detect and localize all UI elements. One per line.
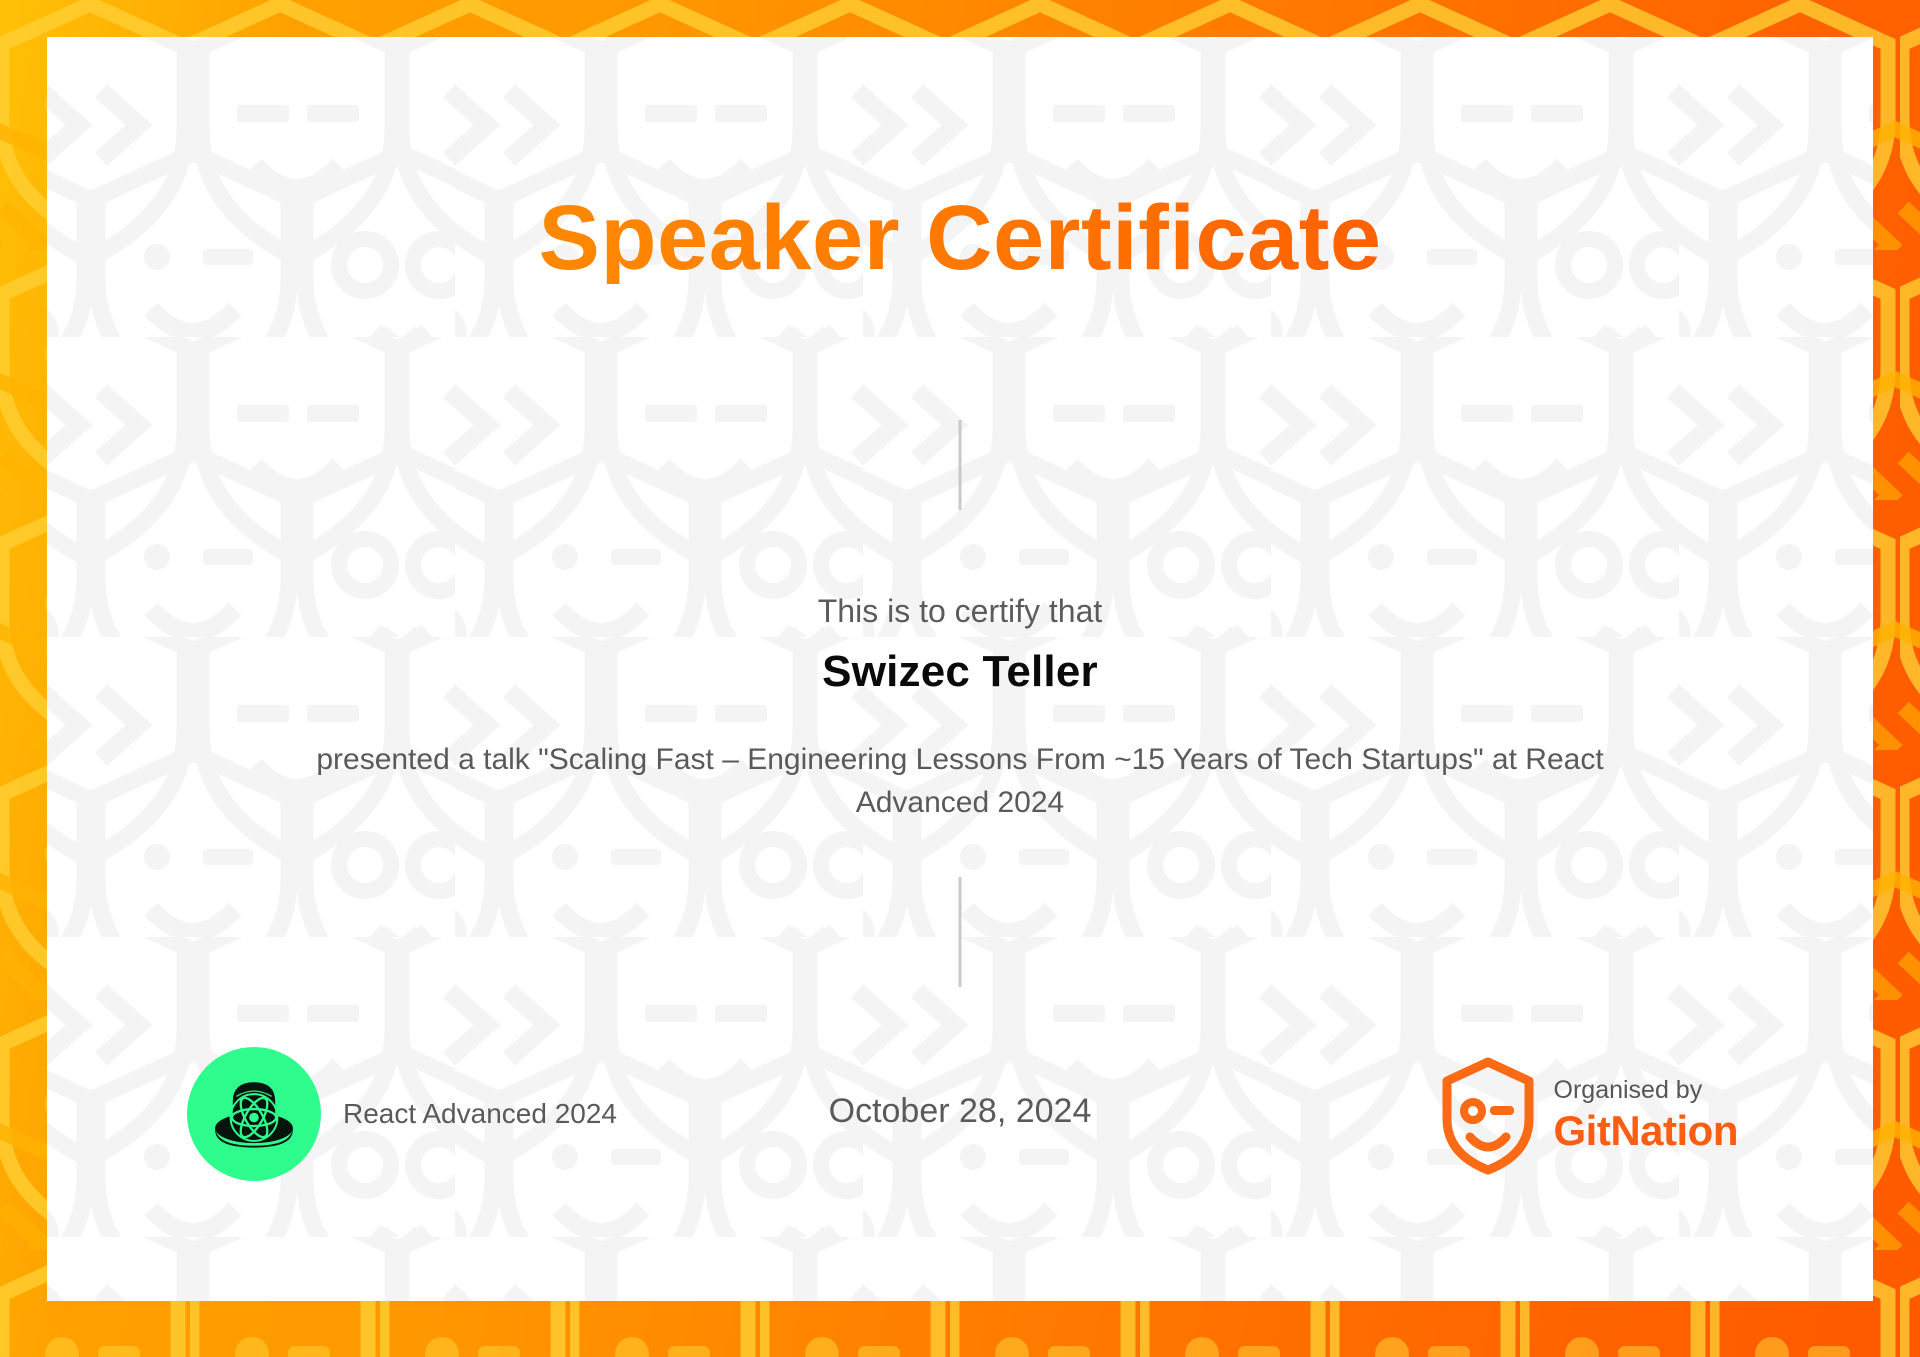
certificate-footer: React Advanced 2024 October 28, 2024 Org… [47,1037,1873,1217]
organiser-name: GitNation [1554,1107,1738,1155]
certificate-card: Speaker Certificate This is to certify t… [47,37,1873,1301]
divider-top [959,420,962,510]
organiser-text: Organised by GitNation [1554,1076,1738,1155]
talk-description: presented a talk "Scaling Fast – Enginee… [260,739,1660,824]
recipient-name: Swizec Teller [47,647,1873,697]
gitnation-shield-face-icon [1440,1057,1536,1175]
page-title: Speaker Certificate [47,192,1873,284]
organised-by-label: Organised by [1554,1076,1738,1105]
certify-line: This is to certify that [47,593,1873,630]
speaker-certificate: Speaker Certificate This is to certify t… [0,0,1920,1357]
divider-bottom [959,877,962,987]
organiser-block: Organised by GitNation [1440,1057,1738,1175]
